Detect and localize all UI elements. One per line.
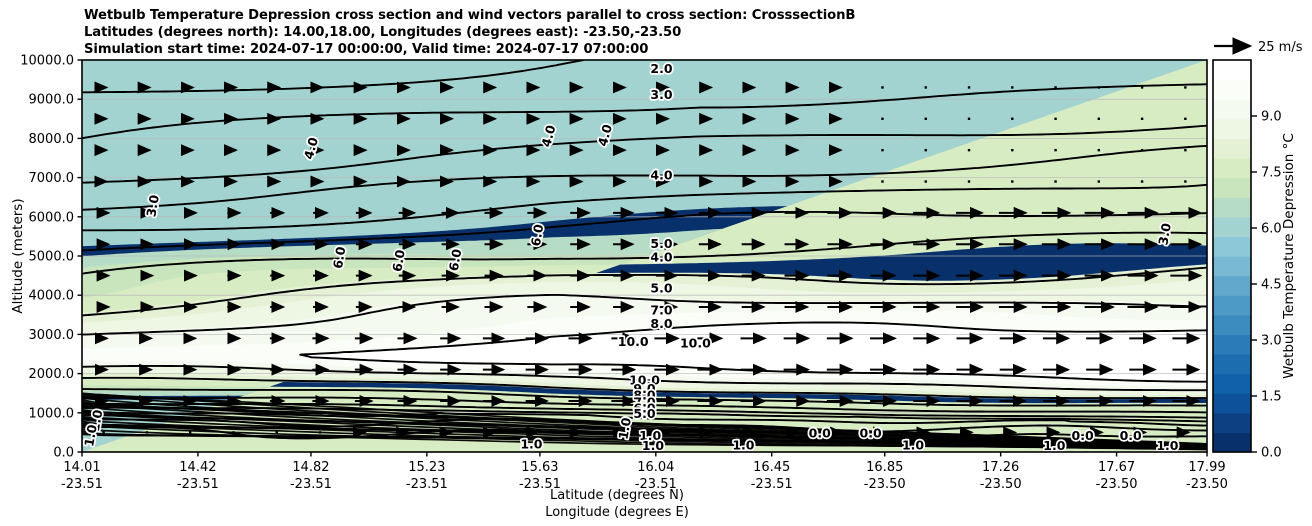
contour-label: 10.010.0 bbox=[618, 334, 649, 349]
colorbar-swatch bbox=[1213, 334, 1251, 354]
contour-label: 1.01.0 bbox=[642, 438, 664, 453]
colorbar-swatch bbox=[1213, 256, 1251, 276]
colorbar-tick-label: 7.5 bbox=[1261, 166, 1282, 181]
x-tick-label-longitude: -23.50 bbox=[980, 477, 1022, 492]
colorbar-tick-label: 6.0 bbox=[1261, 222, 1282, 237]
colorbar-swatch bbox=[1213, 393, 1251, 413]
colorbar-tick-label: 3.0 bbox=[1261, 334, 1282, 349]
x-tick-label-longitude: -23.51 bbox=[751, 477, 793, 492]
svg-text:0.0: 0.0 bbox=[860, 426, 882, 441]
x-tick-label: 17.67 bbox=[1098, 460, 1135, 475]
x-axis-label-2: Longitude (degrees E) bbox=[545, 505, 689, 520]
contour-label: 1.01.0 bbox=[1156, 438, 1178, 453]
x-tick-label: 16.45 bbox=[753, 460, 790, 475]
x-tick-label-longitude: -23.50 bbox=[1186, 477, 1228, 492]
colorbar-swatch bbox=[1213, 178, 1251, 198]
colorbar-swatch bbox=[1213, 354, 1251, 374]
colorbar-swatch bbox=[1213, 60, 1251, 80]
chart-page: Wetbulb Temperature Depression cross sec… bbox=[0, 0, 1312, 526]
x-tick-label: 17.99 bbox=[1188, 460, 1225, 475]
x-tick-label-longitude: -23.51 bbox=[406, 477, 448, 492]
contour-label: 5.05.0 bbox=[650, 281, 672, 296]
colorbar[interactable] bbox=[1213, 60, 1251, 453]
contour-label: 0.00.0 bbox=[809, 426, 831, 441]
colorbar-swatch bbox=[1213, 158, 1251, 178]
x-tick-label: 14.01 bbox=[63, 460, 100, 475]
svg-text:1.0: 1.0 bbox=[732, 437, 754, 452]
contour-label: 1.01.0 bbox=[902, 437, 924, 452]
colorbar-swatch bbox=[1213, 315, 1251, 335]
colorbar-swatch bbox=[1213, 295, 1251, 315]
x-axis-ticks: 14.01-23.5114.42-23.5114.82-23.5115.23-2… bbox=[61, 452, 1228, 492]
contour-label: 0.00.0 bbox=[1072, 428, 1094, 443]
colorbar-swatch bbox=[1213, 80, 1251, 100]
y-tick-label: 2000.0 bbox=[29, 367, 75, 382]
y-tick-label: 9000.0 bbox=[29, 93, 75, 108]
svg-text:1.0: 1.0 bbox=[520, 437, 542, 452]
figure-svg: 2.02.03.03.04.04.04.04.04.04.04.04.03.03… bbox=[0, 0, 1312, 526]
colorbar-tick-label: 0.0 bbox=[1261, 446, 1282, 461]
colorbar-tick-label: 9.0 bbox=[1261, 110, 1282, 125]
colorbar-swatch bbox=[1213, 99, 1251, 119]
svg-text:2.0: 2.0 bbox=[650, 61, 672, 76]
y-tick-label: 1000.0 bbox=[29, 406, 75, 421]
colorbar-swatch bbox=[1213, 413, 1251, 433]
svg-text:3.0: 3.0 bbox=[650, 87, 672, 102]
x-tick-label-longitude: -23.50 bbox=[864, 477, 906, 492]
contour-label: 4.04.0 bbox=[650, 168, 672, 183]
contour-label: 0.00.0 bbox=[1120, 428, 1142, 443]
svg-text:8.0: 8.0 bbox=[650, 316, 672, 331]
y-tick-label: 3000.0 bbox=[29, 328, 75, 343]
colorbar-label: Wetbulb Temperature Depression °C bbox=[1281, 133, 1297, 379]
colorbar-swatch bbox=[1213, 119, 1251, 139]
colorbar-swatch bbox=[1213, 197, 1251, 217]
svg-text:0.0: 0.0 bbox=[1072, 428, 1094, 443]
contour-label: 4.04.0 bbox=[650, 249, 672, 264]
colorbar-tick-label: 1.5 bbox=[1261, 390, 1282, 405]
contour-label: 10.010.0 bbox=[680, 336, 711, 351]
colorbar-swatch bbox=[1213, 217, 1251, 237]
colorbar-swatch bbox=[1213, 236, 1251, 256]
y-axis-label: Altitude (meters) bbox=[10, 198, 26, 313]
contour-label: 5.05.0 bbox=[633, 406, 655, 421]
y-tick-label: 8000.0 bbox=[29, 132, 75, 147]
contour-label: 3.03.0 bbox=[650, 87, 672, 102]
x-tick-label: 15.63 bbox=[521, 460, 558, 475]
y-axis-ticks: 0.01000.02000.03000.04000.05000.06000.07… bbox=[20, 54, 82, 461]
x-tick-label: 16.04 bbox=[637, 460, 674, 475]
x-tick-label-longitude: -23.51 bbox=[61, 477, 103, 492]
y-tick-label: 5000.0 bbox=[29, 250, 75, 265]
x-tick-label-longitude: -23.50 bbox=[1096, 477, 1138, 492]
contour-label: 0.00.0 bbox=[860, 426, 882, 441]
colorbar-swatch bbox=[1213, 374, 1251, 394]
svg-text:4.0: 4.0 bbox=[650, 168, 672, 183]
x-tick-label: 14.42 bbox=[179, 460, 216, 475]
colorbar-tick-label: 4.5 bbox=[1261, 278, 1282, 293]
x-tick-label-longitude: -23.51 bbox=[177, 477, 219, 492]
x-tick-label: 16.85 bbox=[866, 460, 903, 475]
y-tick-label: 7000.0 bbox=[29, 171, 75, 186]
x-tick-label: 17.26 bbox=[982, 460, 1019, 475]
y-tick-label: 0.0 bbox=[53, 446, 74, 461]
contour-label: 1.01.0 bbox=[1043, 438, 1065, 453]
colorbar-swatch bbox=[1213, 276, 1251, 296]
svg-text:1.0: 1.0 bbox=[1156, 438, 1178, 453]
svg-text:4.0: 4.0 bbox=[650, 249, 672, 264]
svg-text:1.0: 1.0 bbox=[902, 437, 924, 452]
svg-text:5.0: 5.0 bbox=[650, 281, 672, 296]
svg-text:10.0: 10.0 bbox=[680, 336, 711, 351]
x-tick-label: 14.82 bbox=[292, 460, 329, 475]
colorbar-swatch bbox=[1213, 432, 1251, 452]
x-tick-label: 15.23 bbox=[408, 460, 445, 475]
contour-label: 1.01.0 bbox=[732, 437, 754, 452]
x-tick-label-longitude: -23.51 bbox=[290, 477, 332, 492]
colorbar-swatch bbox=[1213, 138, 1251, 158]
svg-text:1.0: 1.0 bbox=[642, 438, 664, 453]
y-tick-label: 6000.0 bbox=[29, 210, 75, 225]
x-axis-label: Latitude (degrees N) bbox=[550, 488, 684, 503]
y-tick-label: 4000.0 bbox=[29, 289, 75, 304]
contour-label: 1.01.0 bbox=[520, 437, 542, 452]
colorbar-ticks: 0.01.53.04.56.07.59.0 bbox=[1251, 110, 1282, 461]
svg-text:0.0: 0.0 bbox=[1120, 428, 1142, 443]
contour-label: 2.02.0 bbox=[650, 61, 672, 76]
svg-text:0.0: 0.0 bbox=[809, 426, 831, 441]
contour-label: 8.08.0 bbox=[650, 316, 672, 331]
svg-text:10.0: 10.0 bbox=[618, 334, 649, 349]
svg-text:5.0: 5.0 bbox=[633, 406, 655, 421]
svg-text:1.0: 1.0 bbox=[1043, 438, 1065, 453]
y-tick-label: 10000.0 bbox=[20, 54, 74, 69]
